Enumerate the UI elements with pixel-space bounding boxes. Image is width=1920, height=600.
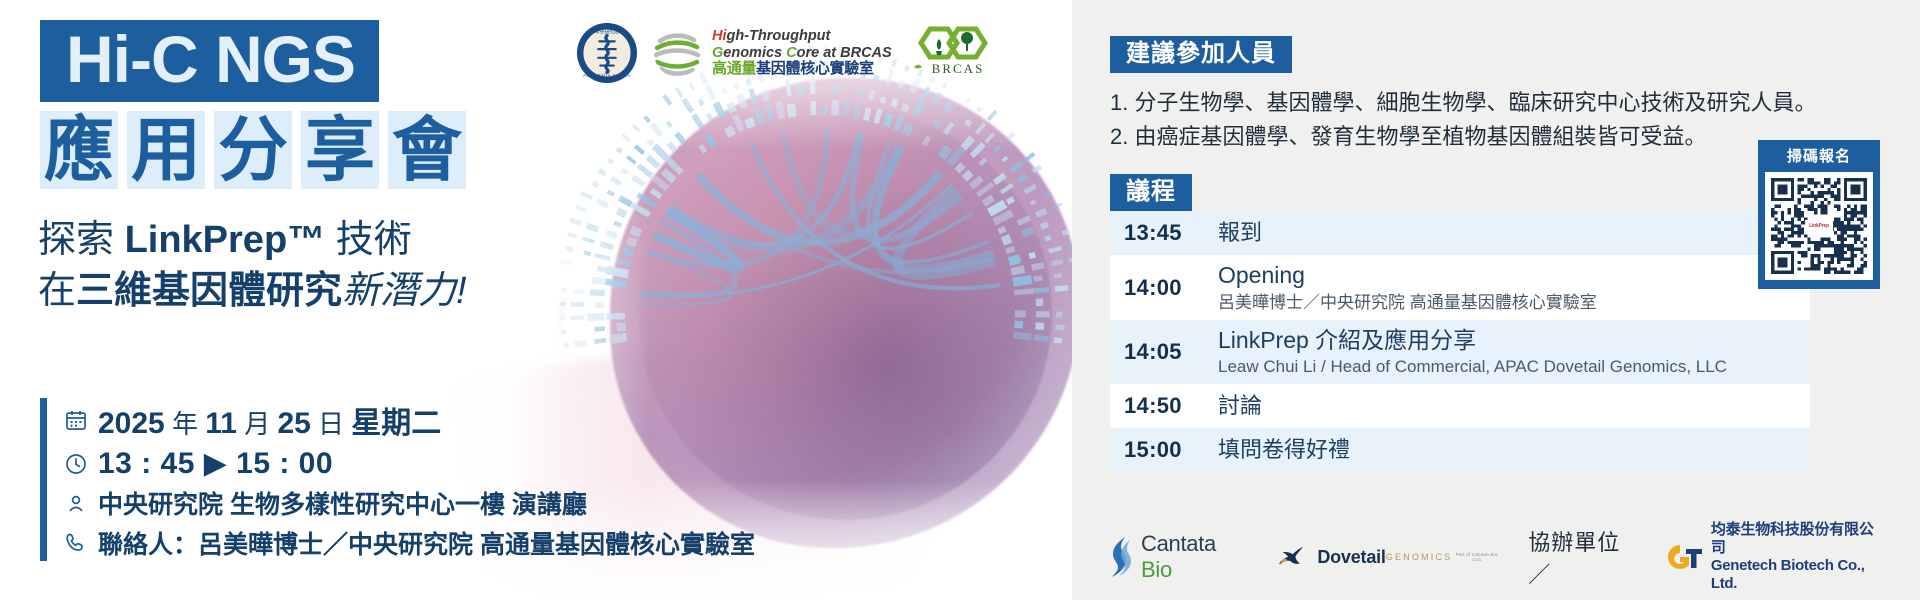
agenda-row[interactable]: 14:50 討論 xyxy=(1110,384,1810,428)
htgc-line1-accent: Hi xyxy=(712,28,727,44)
agenda-row[interactable]: 15:00 填問卷得好禮 xyxy=(1110,428,1810,472)
date-month-unit: 月 xyxy=(244,409,270,439)
subtitle-l1-product: LinkPrep™ xyxy=(125,219,326,261)
svg-text:中央研究院: 中央研究院 xyxy=(595,29,619,36)
detail-row-contact: 聯絡人：呂美曄博士／中央研究院 高通量基因體核心實驗室 xyxy=(64,525,755,561)
agenda-time: 13:45 xyxy=(1124,220,1218,246)
cantata-bio-logo: Cantata Bio xyxy=(1110,531,1248,583)
title-tile: 享 xyxy=(301,111,379,189)
agenda-body: Opening 呂美曄博士／中央研究院 高通量基因體核心實驗室 xyxy=(1218,261,1810,314)
agenda-body: LinkPrep 介紹及應用分享 Leaw Chui Li / Head of … xyxy=(1218,326,1810,379)
date-year: 2025 xyxy=(98,407,165,440)
agenda-row[interactable]: 14:00 Opening 呂美曄博士／中央研究院 高通量基因體核心實驗室 xyxy=(1110,255,1810,320)
agenda-time: 15:00 xyxy=(1124,437,1218,463)
htgc-line2-c: C xyxy=(786,45,796,61)
dovetail-genomics-sub: GENOMICS xyxy=(1386,553,1453,562)
calendar-icon xyxy=(64,408,88,432)
cantata-bio-wordmark: Cantata Bio xyxy=(1141,531,1248,583)
title-tile: 應 xyxy=(40,111,118,189)
agenda-title: 填問卷得好禮 xyxy=(1218,436,1810,464)
htgc-line2-enomics: enomics xyxy=(723,45,786,61)
dovetail-fineprint: Part of Cantata Bio, LLC xyxy=(1452,553,1502,562)
subtitle-l2-emph: 三維基因體研究 xyxy=(76,270,342,312)
htgc-line3-rest: 基因體核心實驗室 xyxy=(756,60,874,77)
location-icon xyxy=(64,491,88,515)
htgc-line2-rest: ore at BRCAS xyxy=(797,45,892,61)
title-tile-char: 應 xyxy=(44,115,114,185)
htgc-line2-g: G xyxy=(712,45,723,61)
agenda-speaker: 呂美曄博士／中央研究院 高通量基因體核心實驗室 xyxy=(1218,292,1810,314)
dovetail-name: Dovetail xyxy=(1317,548,1385,566)
title-tile: 用 xyxy=(127,111,205,189)
agenda-body: 討論 xyxy=(1218,392,1810,420)
svg-text:ACADEMIA SINICA: ACADEMIA SINICA xyxy=(583,73,631,78)
genetech-gt-icon xyxy=(1666,543,1704,571)
subtitle-l2-a: 在 xyxy=(38,270,76,312)
agenda-title: 討論 xyxy=(1218,392,1810,420)
subtitle-l1-c: 技術 xyxy=(325,219,412,261)
title-tile: 分 xyxy=(214,111,292,189)
qr-title: 掃碼報名 xyxy=(1765,147,1873,167)
agenda-title: 報到 xyxy=(1218,219,1810,247)
htgc-line1-rest: gh-Throughput xyxy=(727,28,831,44)
detail-row-time: 13 : 45 ▶ 15 : 00 xyxy=(64,446,755,481)
date-weekday: 星期二 xyxy=(351,407,441,440)
cantata-bolt-icon xyxy=(1110,536,1136,578)
agenda-chip: 議程 xyxy=(1110,174,1192,211)
date-year-unit: 年 xyxy=(172,409,198,439)
detail-row-venue: 中央研究院 生物多樣性研究中心一樓 演講廳 xyxy=(64,485,755,521)
subtitle-l1-a: 探索 xyxy=(38,219,125,261)
academia-sinica-logo-icon: 中央研究院 ACADEMIA SINICA xyxy=(576,22,638,84)
dove-bird-icon xyxy=(1275,544,1318,570)
title-tile-char: 分 xyxy=(218,115,288,185)
sponsor-row: Cantata Bio Dovetail GENOMICS Part of Ca… xyxy=(1110,526,1888,588)
qr-code-image[interactable]: LinkPrep xyxy=(1771,178,1867,274)
htgc-logo-text: High-Throughput Genomics Core at BRCAS 高… xyxy=(712,28,892,77)
genetech-logo: 均泰生物科技股份有限公司 Genetech Biotech Co., Ltd. xyxy=(1666,521,1888,593)
agenda-time: 14:50 xyxy=(1124,393,1218,419)
phone-icon xyxy=(64,531,88,555)
agenda-row[interactable]: 13:45 報到 xyxy=(1110,211,1810,255)
qr-center-logo: LinkPrep xyxy=(1805,220,1833,232)
svg-text:BRCAS: BRCAS xyxy=(931,61,984,76)
detail-date-text: 2025 年 11 月 25 日 星期二 xyxy=(98,398,441,442)
agenda-body: 報到 xyxy=(1218,219,1810,247)
agenda-time: 14:00 xyxy=(1124,275,1218,301)
coorganizer-label: 協辦單位／ xyxy=(1528,525,1640,589)
detail-time-text: 13 : 45 ▶ 15 : 00 xyxy=(98,446,333,481)
title-tile-char: 會 xyxy=(392,115,462,185)
title-tile-char: 用 xyxy=(131,115,201,185)
audience-section: 建議參加人員 1. 分子生物學、基因體學、細胞生物學、臨床研究中心技術及研究人員… xyxy=(1110,36,1880,153)
title-tile-char: 享 xyxy=(305,115,375,185)
subtitle-line-2: 在三維基因體研究新潛力! xyxy=(38,266,467,317)
genetech-name-zh: 均泰生物科技股份有限公司 xyxy=(1711,521,1888,557)
title-english: Hi-C NGS xyxy=(40,20,379,102)
title-tile: 會 xyxy=(388,111,466,189)
agenda-table: 13:45 報到 14:00 Opening 呂美曄博士／中央研究院 高通量基因… xyxy=(1110,211,1810,472)
detail-row-date: 2025 年 11 月 25 日 星期二 xyxy=(64,398,755,442)
event-details: 2025 年 11 月 25 日 星期二 13 : 45 ▶ 15 : 00 中… xyxy=(40,398,755,561)
clock-icon xyxy=(64,452,88,476)
agenda-time: 14:05 xyxy=(1124,339,1218,365)
detail-contact-text: 聯絡人：呂美曄博士／中央研究院 高通量基因體核心實驗室 xyxy=(98,525,755,561)
subtitle-line-1: 探索 LinkPrep™ 技術 xyxy=(38,215,467,266)
genetech-wordmark: 均泰生物科技股份有限公司 Genetech Biotech Co., Ltd. xyxy=(1711,521,1888,593)
agenda-title: Opening xyxy=(1218,261,1810,290)
subtitle-l2-c: 新潛力! xyxy=(342,270,467,312)
htgc-line3-accent: 高通量 xyxy=(712,60,756,77)
date-day: 25 xyxy=(277,407,310,440)
qr-registration-card[interactable]: 掃碼報名 LinkPrep xyxy=(1758,140,1880,289)
agenda-body: 填問卷得好禮 xyxy=(1218,436,1810,464)
qr-box: LinkPrep xyxy=(1765,172,1873,280)
htgc-logo: High-Throughput Genomics Core at BRCAS 高… xyxy=(652,27,892,79)
htgc-sphere-icon xyxy=(652,27,704,79)
title-lockup: Hi-C NGS 應 用 分 享 會 xyxy=(40,20,466,189)
agenda-speaker: Leaw Chui Li / Head of Commercial, APAC … xyxy=(1218,356,1810,378)
agenda-title: LinkPrep 介紹及應用分享 xyxy=(1218,326,1810,355)
brcas-logo-icon: BRCAS xyxy=(906,23,998,83)
detail-venue-text: 中央研究院 生物多樣性研究中心一樓 演講廳 xyxy=(98,485,587,521)
organizer-logos: 中央研究院 ACADEMIA SINICA xyxy=(576,22,998,84)
poster-root: 中央研究院 ACADEMIA SINICA xyxy=(0,0,1920,600)
subtitle-block: 探索 LinkPrep™ 技術 在三維基因體研究新潛力! xyxy=(38,215,467,317)
date-month: 11 xyxy=(205,407,237,440)
audience-chip: 建議參加人員 xyxy=(1110,36,1292,73)
agenda-row[interactable]: 14:05 LinkPrep 介紹及應用分享 Leaw Chui Li / He… xyxy=(1110,320,1810,385)
right-panel: 建議參加人員 1. 分子生物學、基因體學、細胞生物學、臨床研究中心技術及研究人員… xyxy=(1072,0,1920,600)
cantata-word: Cantata xyxy=(1141,531,1216,556)
genetech-name-en: Genetech Biotech Co., Ltd. xyxy=(1711,557,1888,593)
audience-item: 1. 分子生物學、基因體學、細胞生物學、臨床研究中心技術及研究人員。 xyxy=(1110,86,1880,119)
left-panel: 中央研究院 ACADEMIA SINICA xyxy=(0,0,1072,600)
bio-word: Bio xyxy=(1141,557,1172,582)
title-chinese-tiles: 應 用 分 享 會 xyxy=(40,111,466,189)
dovetail-genomics-logo: Dovetail GENOMICS Part of Cantata Bio, L… xyxy=(1275,544,1503,570)
date-day-unit: 日 xyxy=(318,409,344,439)
